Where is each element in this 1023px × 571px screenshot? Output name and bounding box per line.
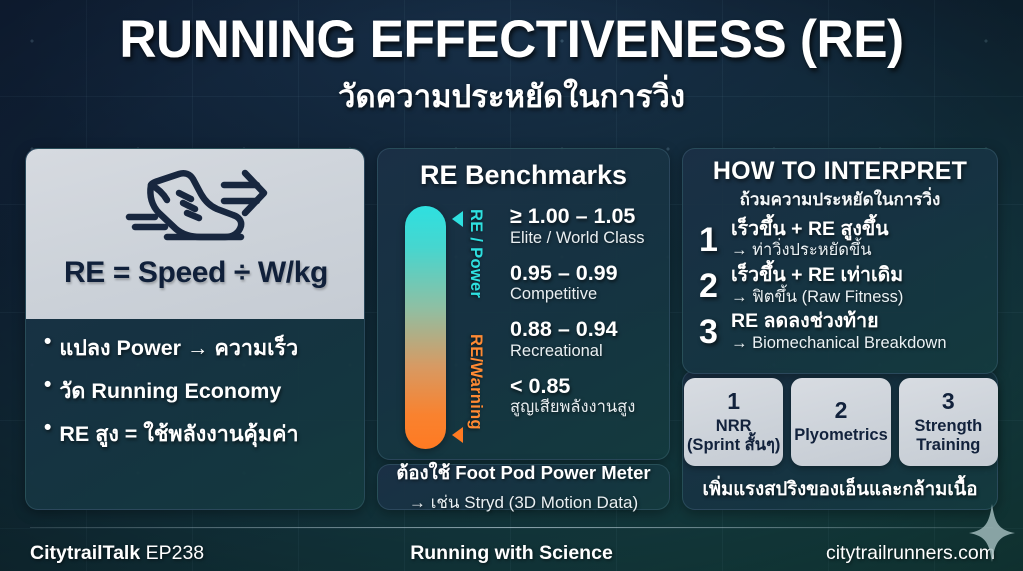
list-item-number: 1 (695, 223, 722, 257)
training-card-number: 1 (727, 390, 740, 413)
benchmark-label: Recreational (510, 342, 662, 362)
benchmark-value: 0.95 – 0.99 (510, 261, 662, 286)
list-item-title: RE ลดลงช่วงท้าย (731, 310, 947, 333)
bullet-dot-icon: • (44, 417, 51, 439)
benchmark-row: 0.88 – 0.94 Recreational (510, 317, 662, 362)
benchmark-label: สูญเสียพลังงานสูง (510, 398, 662, 418)
re-gradient-scale (405, 206, 446, 449)
bullet-dot-icon: • (44, 331, 51, 353)
device-requirement-panel: ต้องใช้ Foot Pod Power Meter → เช่น Stry… (377, 464, 670, 510)
training-cards: 1 NRR(Sprint สั้นๆ) 2 Plyometrics 3 Stre… (684, 378, 998, 466)
training-card[interactable]: 1 NRR(Sprint สั้นๆ) (684, 378, 783, 466)
training-footer: เพิ่มแรงสปริงของเอ็นและกล้ามเนื้อ (682, 468, 998, 510)
page-title: RUNNING EFFECTIVENESS (RE) (15, 12, 1007, 67)
training-card-number: 3 (942, 390, 955, 413)
scale-arrow-top-icon (452, 211, 463, 227)
list-item: 3 RE ลดลงช่วงท้าย → Biomechanical Breakd… (695, 310, 987, 353)
benchmark-label: Competitive (510, 285, 662, 305)
training-footer-text: เพิ่มแรงสปริงของเอ็นและกล้ามเนื้อ (703, 475, 978, 504)
training-card-label: Plyometrics (794, 426, 888, 444)
formula-panel: RE = Speed ÷ W/kg • แปลง Power → ความเร็… (25, 148, 365, 510)
benchmarks-title: RE Benchmarks (378, 160, 669, 191)
header: RUNNING EFFECTIVENESS (RE) วัดความประหยั… (0, 12, 1023, 121)
bullet-dot-icon: • (44, 374, 51, 396)
interpret-list: 1 เร็วขึ้น + RE สูงขึ้น → ท่าวิ่งประหยัด… (683, 218, 997, 354)
running-shoe-icon (121, 163, 271, 254)
benchmark-list: ≥ 1.00 – 1.05 Elite / World Class 0.95 –… (510, 204, 662, 430)
training-card-label: StrengthTraining (914, 417, 982, 454)
list-item-label: RE สูง = ใช้พลังงานคุ้มค่า (59, 417, 298, 451)
training-card[interactable]: 3 StrengthTraining (899, 378, 998, 466)
interpret-panel: HOW TO INTERPRET ถ้วมความประหยัดในการวิ่… (682, 148, 998, 374)
page-subtitle: วัดความประหยัดในการวิ่ง (0, 71, 1023, 121)
list-item-number: 3 (695, 315, 722, 349)
list-item-label: วัด Running Economy (59, 374, 281, 408)
benchmarks-panel: RE Benchmarks RE / Power RE/Warning ≥ 1.… (377, 148, 670, 460)
training-card-label: NRR(Sprint สั้นๆ) (687, 417, 780, 454)
list-item-title: เร็วขึ้น + RE เท่าเดิม (731, 264, 903, 287)
list-item: • แปลง Power → ความเร็ว (44, 331, 350, 365)
footer-divider (30, 527, 993, 528)
scale-label-warning: RE/Warning (466, 334, 485, 430)
device-requirement-line1: ต้องใช้ Foot Pod Power Meter (396, 459, 650, 488)
training-card-number: 2 (835, 399, 848, 422)
list-item: 2 เร็วขึ้น + RE เท่าเดิม → ฟิตขึ้น (Raw … (695, 264, 987, 307)
list-item: 1 เร็วขึ้น + RE สูงขึ้น → ท่าวิ่งประหยัด… (695, 218, 987, 261)
list-item-subtitle: → Biomechanical Breakdown (731, 334, 947, 354)
benchmark-value: 0.88 – 0.94 (510, 317, 662, 342)
device-requirement-line2: → เช่น Stryd (3D Motion Data) (409, 489, 638, 516)
benchmark-value: < 0.85 (510, 374, 662, 399)
interpret-subtitle: ถ้วมความประหยัดในการวิ่ง (683, 186, 997, 213)
list-item-title: เร็วขึ้น + RE สูงขึ้น (731, 218, 889, 241)
formula-text: RE = Speed ÷ W/kg (64, 256, 328, 290)
benchmark-row: 0.95 – 0.99 Competitive (510, 261, 662, 306)
training-card[interactable]: 2 Plyometrics (791, 378, 890, 466)
scale-label-power: RE / Power (466, 209, 485, 298)
list-item: • วัด Running Economy (44, 374, 350, 408)
formula-card: RE = Speed ÷ W/kg (26, 149, 365, 319)
benchmark-row: < 0.85 สูญเสียพลังงานสูง (510, 374, 662, 419)
footer-bar: CitytrailTalk EP238 Running with Science… (0, 535, 1023, 571)
benchmark-value: ≥ 1.00 – 1.05 (510, 204, 662, 229)
sparkle-icon (967, 502, 1017, 569)
interpret-title: HOW TO INTERPRET (683, 157, 997, 186)
scale-arrow-bottom-icon (452, 427, 463, 443)
benchmark-label: Elite / World Class (510, 229, 662, 249)
benefit-list: • แปลง Power → ความเร็ว • วัด Running Ec… (26, 325, 365, 460)
list-item-label: แปลง Power → ความเร็ว (59, 331, 298, 365)
benchmark-row: ≥ 1.00 – 1.05 Elite / World Class (510, 204, 662, 249)
list-item-subtitle: → ฟิตขึ้น (Raw Fitness) (731, 288, 903, 308)
list-item-subtitle: → ท่าวิ่งประหยัดขึ้น (731, 241, 889, 261)
list-item-number: 2 (695, 269, 722, 303)
list-item: • RE สูง = ใช้พลังงานคุ้มค่า (44, 417, 350, 451)
